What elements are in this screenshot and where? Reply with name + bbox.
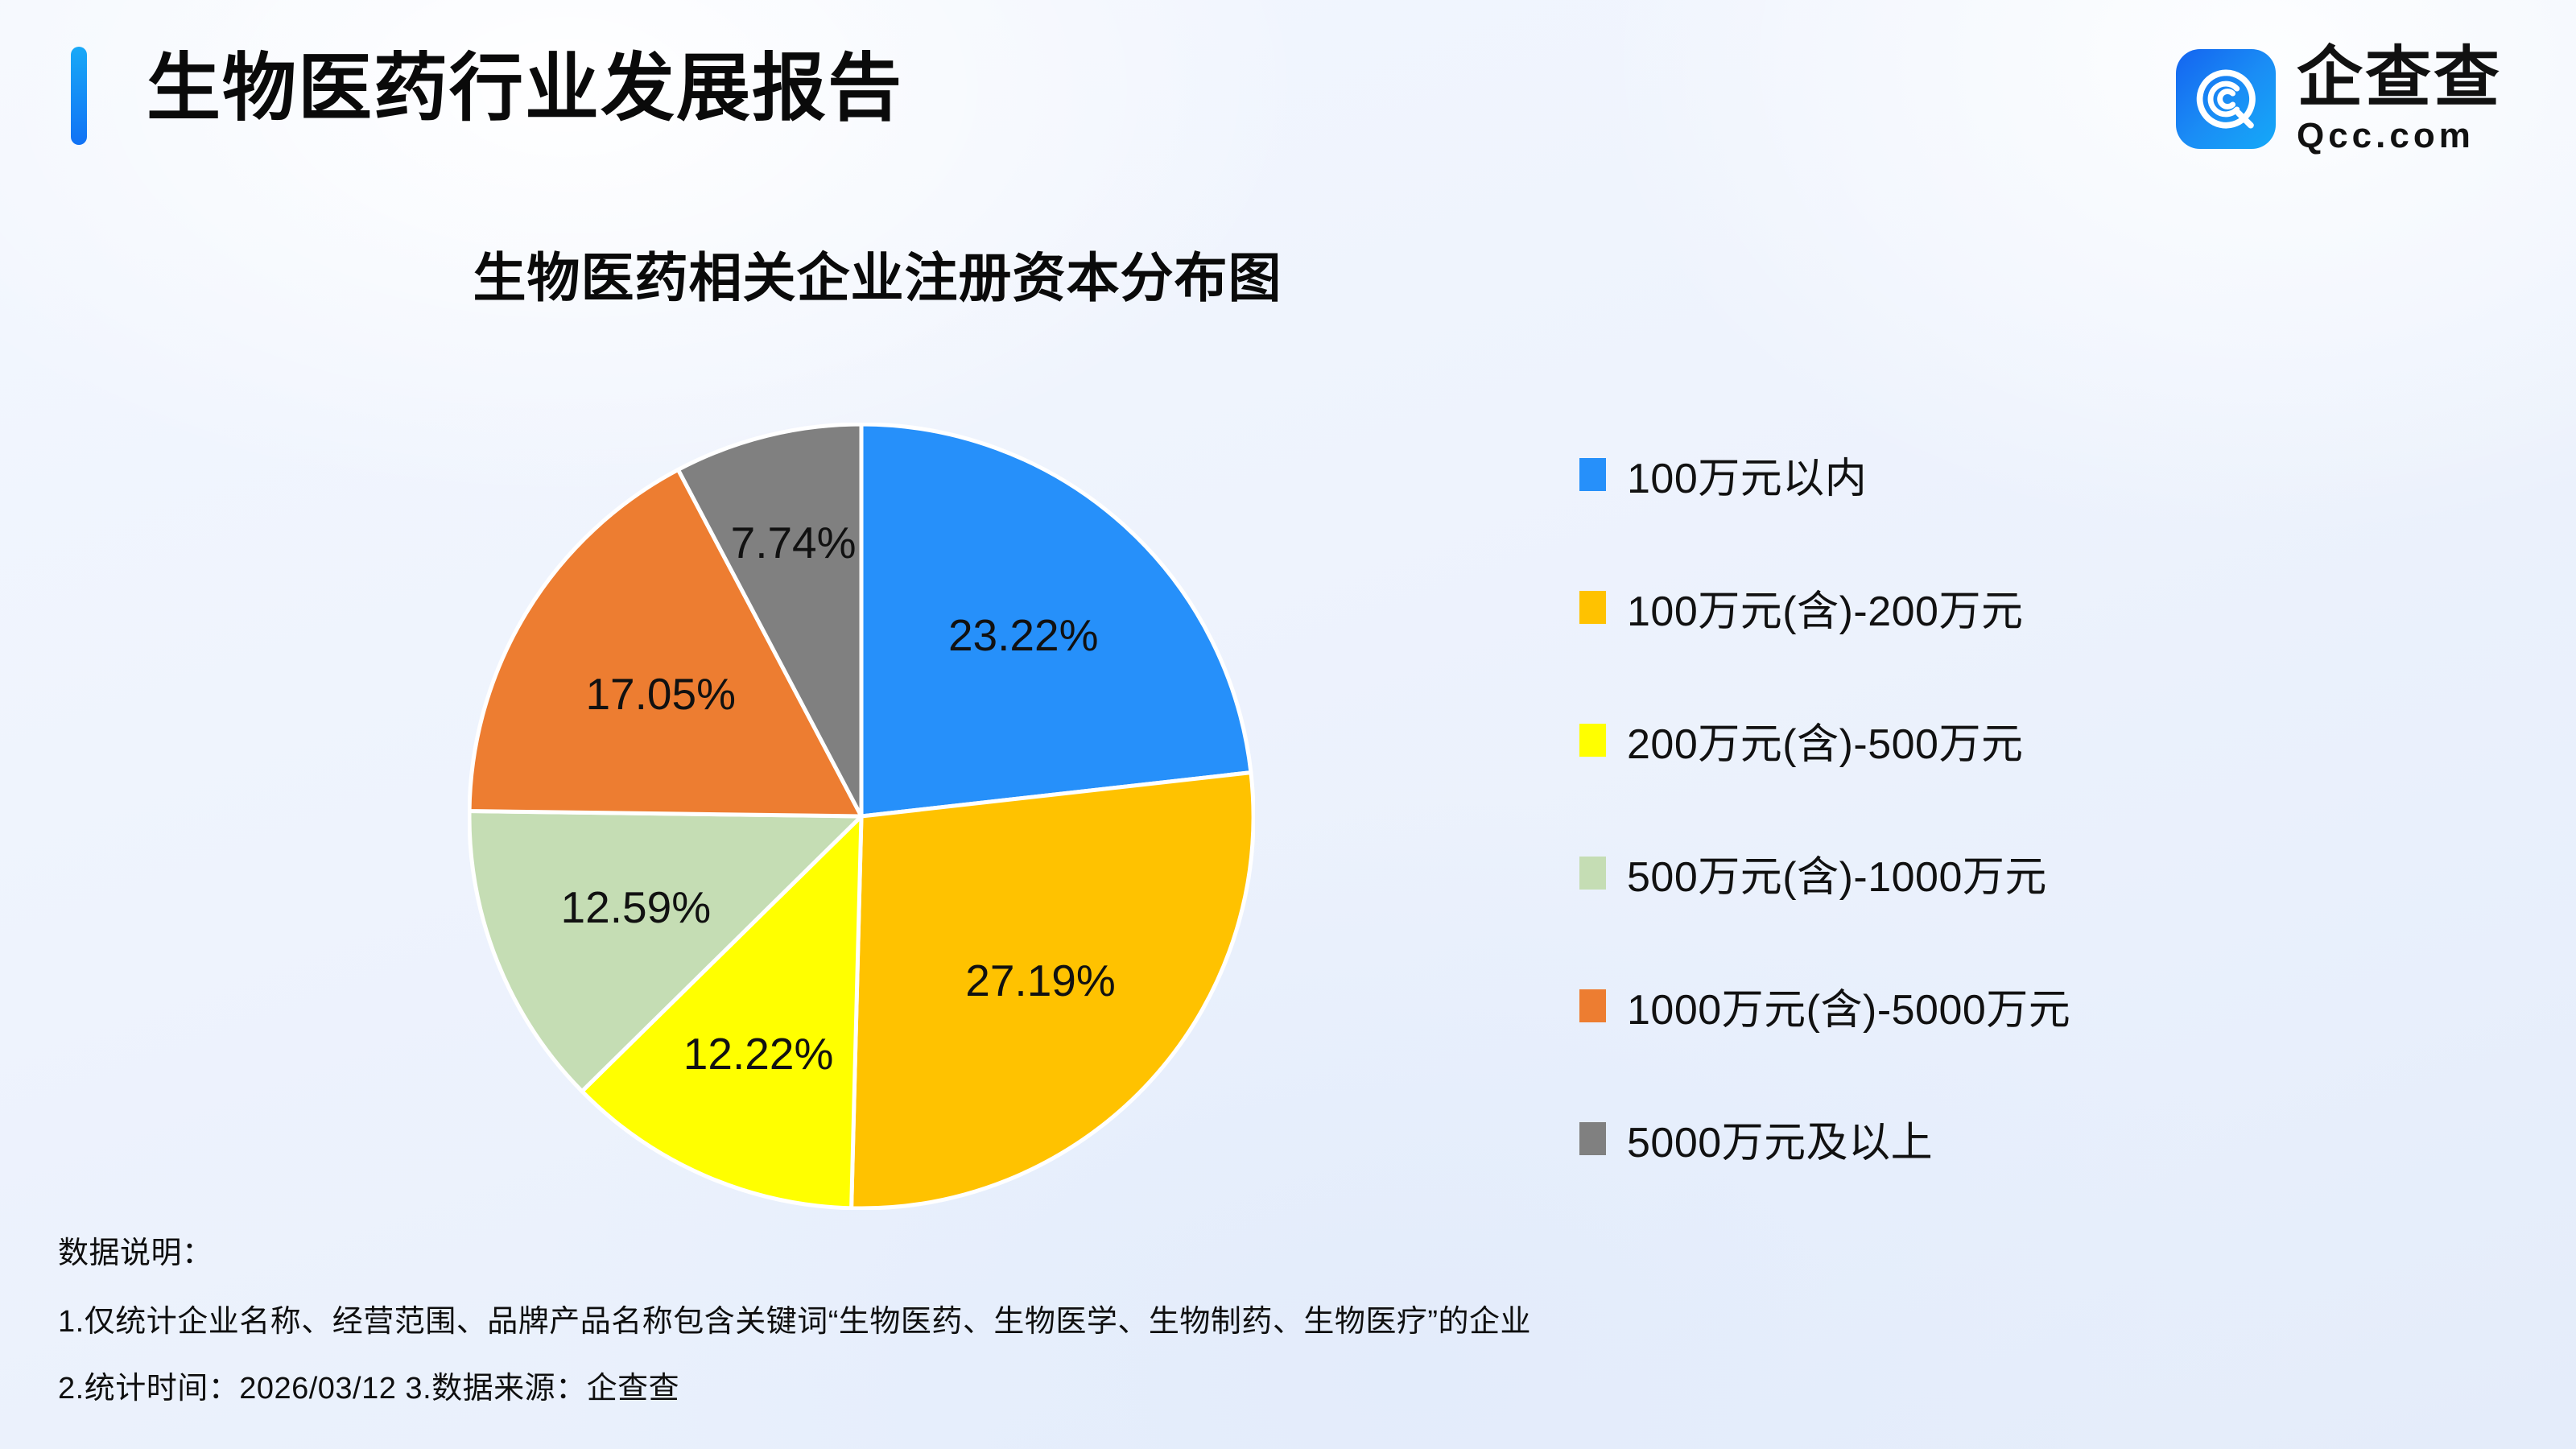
brand-logo: 企查查 Qcc.com <box>2176 42 2502 156</box>
pie-svg <box>468 423 1255 1210</box>
note-line-1: 1.仅统计企业名称、经营范围、品牌产品名称包含关键词“生物医药、生物医学、生物制… <box>58 1296 2392 1340</box>
page-header: 生物医药行业发展报告 企查查 Qcc.com <box>0 0 2576 197</box>
legend-item-label: 500万元(含)-1000万元 <box>1627 843 2047 903</box>
pie-slice-value-label: 17.05% <box>585 668 736 720</box>
legend-item[interactable]: 500万元(含)-1000万元 <box>1579 840 2425 906</box>
chart-title: 生物医药相关企业注册资本分布图 <box>0 235 1755 312</box>
legend-item[interactable]: 100万元(含)-200万元 <box>1579 574 2425 640</box>
qcc-at-mark-icon <box>2176 49 2276 149</box>
brand-wordmark: 企查查 Qcc.com <box>2297 43 2502 156</box>
legend-color-swatch-icon <box>1579 591 1606 624</box>
brand-url: Qcc.com <box>2297 116 2475 156</box>
legend-item-label: 1000万元(含)-5000万元 <box>1627 976 2070 1036</box>
legend-item[interactable]: 200万元(含)-500万元 <box>1579 707 2425 773</box>
data-notes: 数据说明： 1.仅统计企业名称、经营范围、品牌产品名称包含关键词“生物医药、生物… <box>58 1228 2392 1407</box>
pie-slice-value-label: 12.22% <box>683 1028 834 1080</box>
report-page: 生物医药行业发展报告 企查查 Qcc.com 生物医药相关企业注册资本分布图 <box>0 0 2576 1449</box>
legend-item[interactable]: 100万元以内 <box>1579 441 2425 507</box>
legend-item[interactable]: 5000万元及以上 <box>1579 1105 2425 1171</box>
legend-color-swatch-icon <box>1579 1122 1606 1155</box>
legend-color-swatch-icon <box>1579 724 1606 757</box>
legend-color-swatch-icon <box>1579 458 1606 491</box>
page-title: 生物医药行业发展报告 <box>147 40 903 137</box>
title-accent-bar <box>71 47 87 145</box>
legend-item-label: 5000万元及以上 <box>1627 1108 1933 1169</box>
chart-legend: 100万元以内100万元(含)-200万元200万元(含)-500万元500万元… <box>1579 441 2425 1238</box>
legend-color-swatch-icon <box>1579 989 1606 1022</box>
pie-slice-value-label: 23.22% <box>948 609 1099 661</box>
pie-slice-value-label: 27.19% <box>965 955 1116 1006</box>
notes-heading: 数据说明： <box>58 1228 2392 1272</box>
legend-item-label: 100万元以内 <box>1627 444 1867 505</box>
brand-name-cn: 企查查 <box>2297 43 2502 113</box>
pie-chart: 23.22%27.19%12.22%12.59%17.05%7.74% <box>468 423 1255 1210</box>
pie-slice-value-label: 12.59% <box>561 881 712 933</box>
legend-item[interactable]: 1000万元(含)-5000万元 <box>1579 972 2425 1038</box>
legend-item-label: 100万元(含)-200万元 <box>1627 577 2023 638</box>
pie-slice-value-label: 7.74% <box>731 517 857 568</box>
legend-item-label: 200万元(含)-500万元 <box>1627 710 2023 770</box>
legend-color-swatch-icon <box>1579 857 1606 890</box>
note-line-2: 2.统计时间：2026/03/12 3.数据来源：企查查 <box>58 1363 2392 1407</box>
